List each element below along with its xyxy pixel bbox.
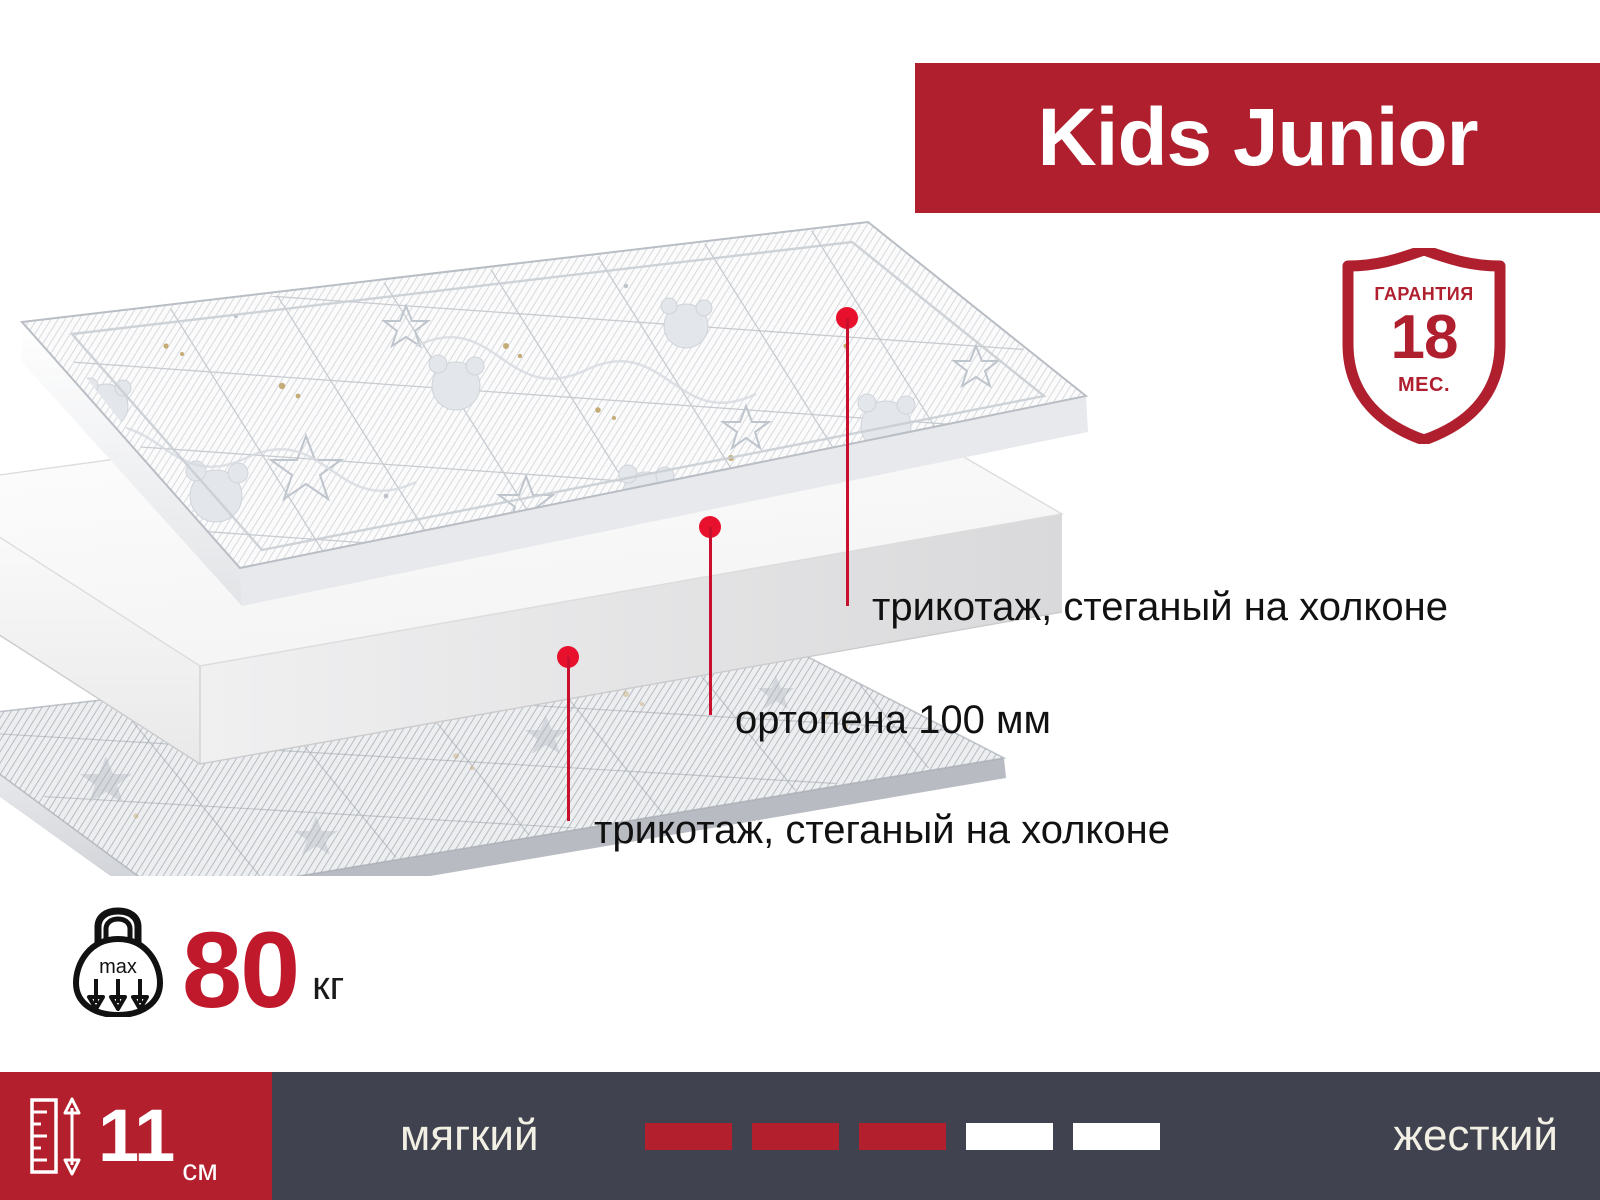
firmness-segment-2 [752,1123,839,1150]
firmness-segment-4 [966,1123,1053,1150]
firmness-segment-3 [859,1123,946,1150]
mattress-illustration [0,196,1116,876]
firmness-hard-label: жесткий [1394,1111,1558,1161]
callout-label-bottom-cover: трикотаж, стеганый на холконе [594,808,1170,853]
warranty-badge: ГАРАНТИЯ 18 МЕС. [1338,248,1510,444]
callout-label-foam-core: ортопена 100 мм [735,698,1051,743]
product-title-banner: Kids Junior [915,63,1600,213]
callout-leader-foam-core [709,527,712,715]
firmness-scale [645,1123,1160,1150]
height-unit: см [182,1154,218,1200]
product-infographic: Kids Junior ГАРАНТИЯ 18 МЕС. трикотаж, с… [0,0,1600,1200]
max-weight-value: 80 [182,924,298,1017]
max-weight-block: max 80 кг [72,905,344,1017]
firmness-segment-5 [1073,1123,1160,1150]
firmness-segment-1 [645,1123,732,1150]
page-title: Kids Junior [1037,97,1477,179]
height-spec: 11 см [0,1072,272,1200]
bottom-spec-bar: 11 см мягкий жесткий [0,1072,1600,1200]
kettlebell-weight-icon: max [72,905,164,1017]
ruler-height-icon [28,1095,86,1177]
callout-leader-top-cover [846,318,849,606]
callout-leader-bottom-cover [567,657,570,821]
firmness-spec: мягкий жесткий [272,1072,1600,1200]
max-weight-unit: кг [312,964,344,1017]
svg-text:max: max [99,956,137,978]
warranty-unit: МЕС. [1338,374,1510,397]
warranty-value: 18 [1338,302,1510,373]
height-value: 11 [98,1099,174,1173]
callout-label-top-cover: трикотаж, стеганый на холконе [872,585,1448,630]
firmness-soft-label: мягкий [400,1111,539,1161]
